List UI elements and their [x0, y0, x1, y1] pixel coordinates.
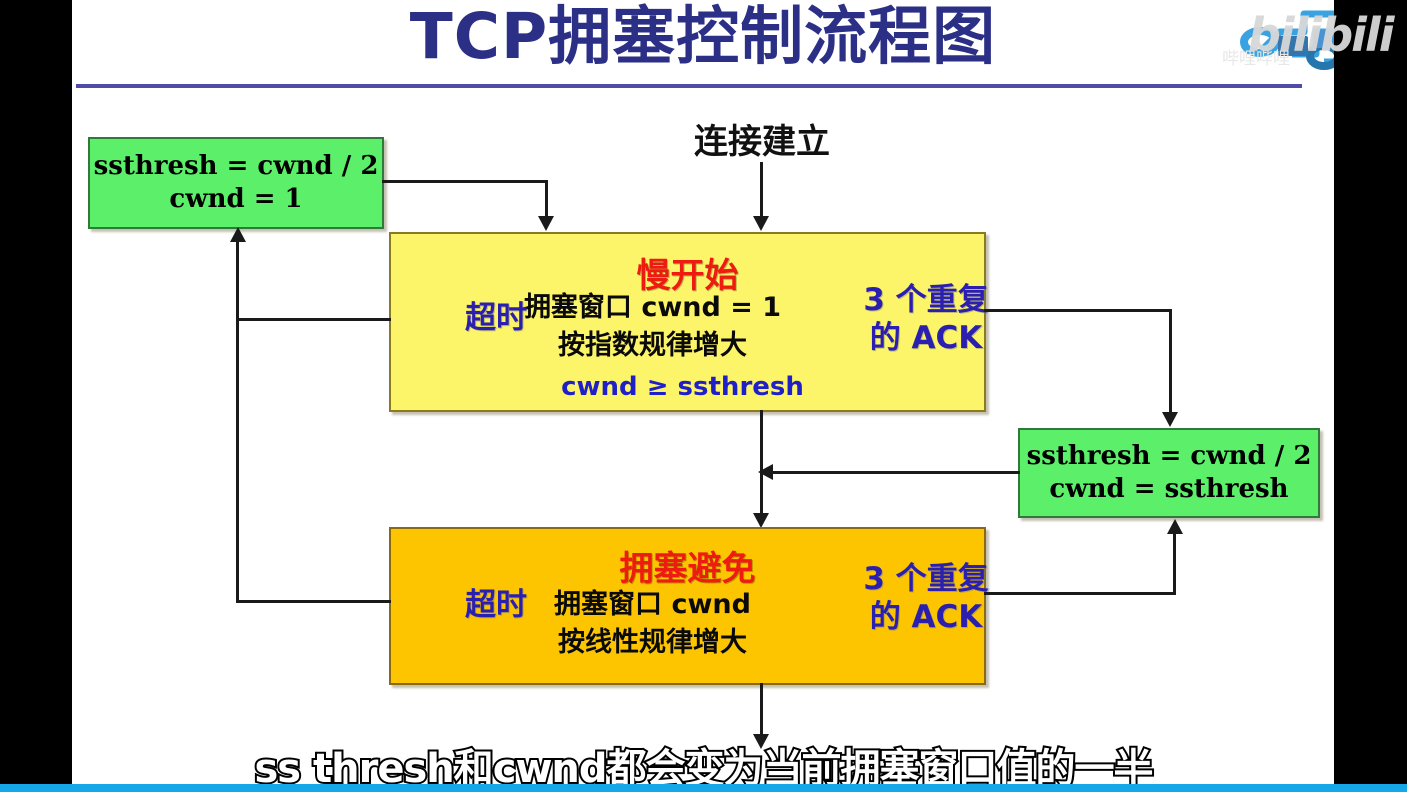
- connector-slowstart-dupack-v: [1169, 309, 1172, 415]
- screenshot-root: TCP拥塞控制流程图 连接建立 ssthresh = cwnd / 2 cwnd…: [0, 0, 1407, 792]
- connector-slowstart-dupack-arrowhead: [1162, 412, 1178, 427]
- video-progress-bar[interactable]: [0, 784, 1407, 792]
- connector-slowstart-timeout-v: [236, 240, 239, 320]
- connector-slowstart-to-avoidance-arrowhead: [753, 513, 769, 528]
- timeout-reset-line1: ssthresh = cwnd / 2: [94, 150, 379, 183]
- slow-start-dupack-label: 3 个重复 的 ACK: [861, 282, 991, 358]
- slow-start-dupack-line1: 3 个重复: [861, 282, 991, 320]
- connector-reset-to-slowstart-h: [382, 180, 548, 183]
- bilibili-wordmark-watermark: bilibili: [1248, 8, 1392, 62]
- box-congestion-avoidance: 拥塞避免 拥塞窗口 cwnd 按线性规律增大 超时 3 个重复 的 ACK: [389, 527, 986, 685]
- connector-reset-to-slowstart-arrowhead: [538, 216, 554, 231]
- slow-start-condition: cwnd ≥ ssthresh: [386, 372, 979, 402]
- connector-fastrecovery-to-trunk-arrowhead: [758, 464, 773, 480]
- slide-canvas: TCP拥塞控制流程图 连接建立 ssthresh = cwnd / 2 cwnd…: [72, 0, 1334, 792]
- congestion-avoidance-dupack-line1: 3 个重复: [861, 561, 991, 599]
- slow-start-timeout-label: 超时: [465, 300, 527, 338]
- slow-start-dupack-line2: 的 ACK: [861, 320, 991, 358]
- connector-avoidance-dupack-h: [984, 592, 1176, 595]
- connector-avoidance-exit-v: [760, 683, 763, 738]
- congestion-avoidance-dupack-line2: 的 ACK: [861, 599, 991, 637]
- connector-entry-arrowhead: [753, 216, 769, 231]
- connector-avoidance-dupack-v: [1173, 533, 1176, 594]
- letterbox-bar-right: [1334, 0, 1407, 792]
- connector-entry-vertical: [760, 162, 763, 217]
- box-fast-recovery: ssthresh = cwnd / 2 cwnd = ssthresh: [1018, 428, 1320, 518]
- page-title: TCP拥塞控制流程图: [72, 0, 1334, 77]
- connector-slowstart-timeout-arrowhead: [230, 227, 246, 242]
- connector-slowstart-dupack-h: [984, 309, 1172, 312]
- entry-label-connection-established: 连接建立: [612, 114, 912, 163]
- title-divider: [76, 84, 1302, 88]
- connector-avoidance-dupack-arrowhead: [1167, 519, 1183, 534]
- fast-recovery-line1: ssthresh = cwnd / 2: [1027, 440, 1312, 473]
- connector-slowstart-timeout-h: [236, 318, 391, 321]
- congestion-avoidance-timeout-label: 超时: [465, 587, 527, 625]
- box-timeout-reset: ssthresh = cwnd / 2 cwnd = 1: [88, 137, 384, 229]
- connector-reset-to-slowstart-v: [545, 180, 548, 219]
- connector-fastrecovery-to-trunk-h: [772, 471, 1020, 474]
- congestion-avoidance-dupack-label: 3 个重复 的 ACK: [861, 561, 991, 637]
- connector-avoidance-timeout-h: [236, 600, 391, 603]
- connector-avoidance-timeout-v: [236, 318, 239, 603]
- box-slow-start: 慢开始 拥塞窗口 cwnd = 1 按指数规律增大 cwnd ≥ ssthres…: [389, 232, 986, 412]
- timeout-reset-line2: cwnd = 1: [169, 183, 302, 216]
- letterbox-bar-left: [0, 0, 72, 792]
- fast-recovery-line2: cwnd = ssthresh: [1049, 473, 1288, 506]
